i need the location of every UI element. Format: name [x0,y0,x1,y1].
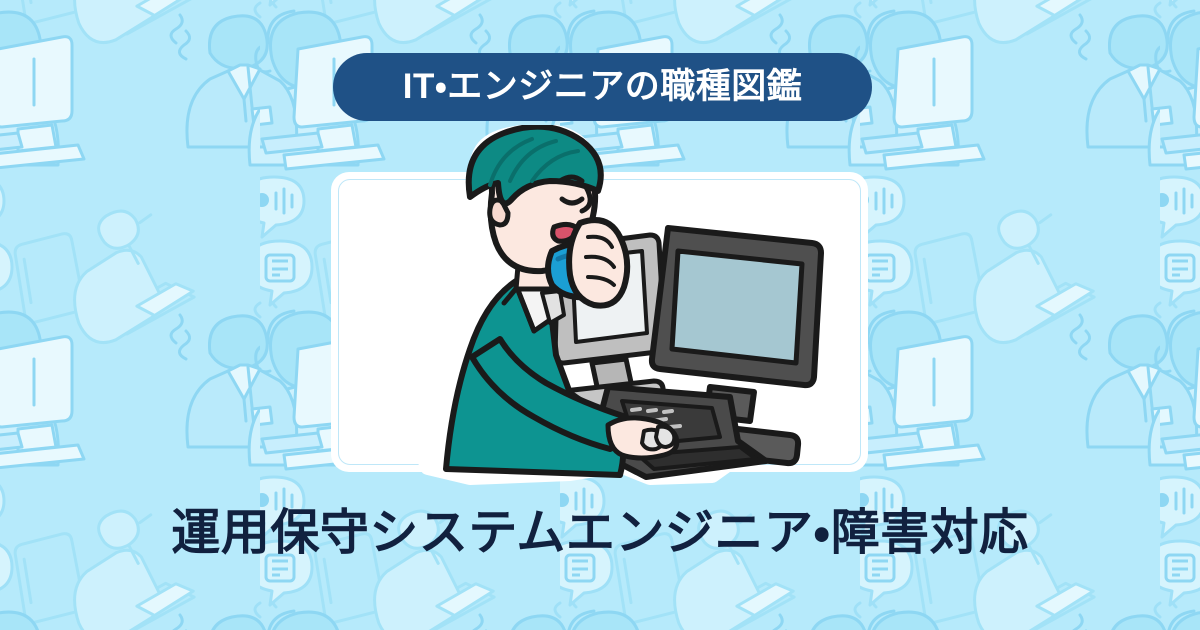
eyecatch-canvas: IT・エンジニアの職種図鑑 電話を受けながら二台のモニターの前でキーボードを操作… [0,0,1200,630]
card-inner-border [338,179,861,465]
page-title-text: 運用保守システムエンジニア・障害対応 [171,508,1028,559]
illustration-card [331,172,868,472]
category-badge-label: IT・エンジニアの職種図鑑 [403,69,803,104]
category-badge: IT・エンジニアの職種図鑑 [333,53,872,121]
page-title: 運用保守システムエンジニア・障害対応 [0,497,1200,571]
